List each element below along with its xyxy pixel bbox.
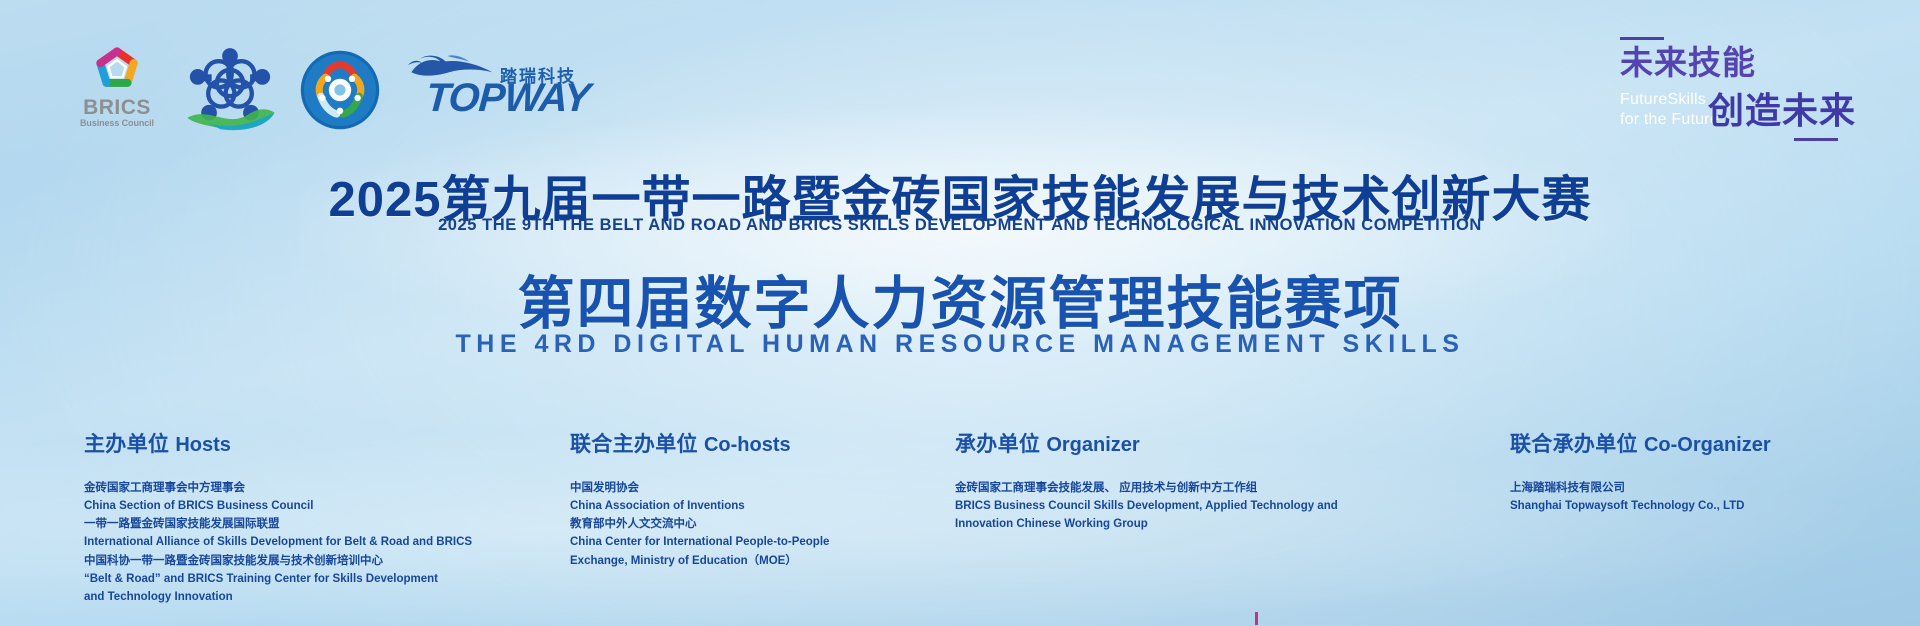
organizer-heading-cn: 联合主办单位: [570, 433, 698, 456]
organizer-list: 金砖国家工商理事会中方理事会 China Section of BRICS Bu…: [84, 479, 554, 606]
futureskills-cn-line1: 未来技能: [1620, 46, 1756, 81]
competition-title-en: 2025 THE 9TH THE BELT AND ROAD AND BRICS…: [0, 216, 1920, 235]
organizer-list: 中国发明协会 China Association of Inventions 教…: [570, 479, 970, 570]
organizer-heading-en: Organizer: [1046, 434, 1139, 456]
bottom-pink-marker: [1255, 612, 1258, 625]
futureskills-top-rule: [1620, 37, 1664, 40]
futureskills-en-lines: FutureSkills for the Future: [1620, 90, 1719, 130]
futureskills-en-line2: for the Future: [1620, 110, 1719, 130]
organizer-line: 中国科协一带一路暨金砖国家技能发展与技术创新培训中心: [84, 552, 554, 570]
organizer-columns: 主办单位 Hosts 金砖国家工商理事会中方理事会 China Section …: [0, 428, 1920, 618]
organizer-heading-cn: 主办单位: [84, 433, 169, 456]
topway-wordmark: TOPWAY: [425, 78, 591, 118]
organizer-line: 金砖国家工商理事会中方理事会: [84, 479, 554, 497]
organizer-line: Innovation Chinese Working Group: [955, 515, 1385, 533]
brics-star-icon: [86, 44, 148, 102]
brics-wordmark: BRICS: [78, 97, 156, 118]
organizer-line: 教育部中外人文交流中心: [570, 515, 970, 533]
organizer-heading: 联合主办单位 Co-hosts: [570, 428, 970, 458]
organizer-list: 金砖国家工商理事会技能发展、 应用技术与创新中方工作组 BRICS Busine…: [955, 479, 1385, 533]
organizer-list: 上海踏瑞科技有限公司 Shanghai Topwaysoft Technolog…: [1510, 479, 1910, 515]
organizer-line: “Belt & Road” and BRICS Training Center …: [84, 570, 554, 588]
event-subtitle-cn: 第四届数字人力资源管理技能赛项: [0, 258, 1920, 340]
organizer-line: 一带一路暨金砖国家技能发展国际联盟: [84, 515, 554, 533]
organizer-heading-cn: 联合承办单位: [1510, 433, 1638, 456]
organizer-heading: 承办单位 Organizer: [955, 428, 1385, 458]
event-subtitle-en: THE 4RD DIGITAL HUMAN RESOURCE MANAGEMEN…: [0, 330, 1920, 359]
futureskills-cn-line2: 创造未来: [1708, 92, 1856, 130]
organizer-heading: 联合承办单位 Co-Organizer: [1510, 428, 1910, 458]
organizer-heading-cn: 承办单位: [955, 433, 1040, 456]
organizer-line: BRICS Business Council Skills Developmen…: [955, 497, 1385, 515]
circle-star-gear-icon: [300, 50, 380, 130]
alliance-flower-icon: [182, 48, 278, 132]
organizer-line: 中国发明协会: [570, 479, 970, 497]
organizer-column-coorganizer: 联合承办单位 Co-Organizer 上海踏瑞科技有限公司 Shanghai …: [1510, 428, 1910, 515]
futureskills-bottom-rule: [1794, 138, 1838, 141]
topway-logo: 踏瑞科技 TOPWAY: [406, 54, 576, 126]
organizer-column-cohosts: 联合主办单位 Co-hosts 中国发明协会 China Association…: [570, 428, 970, 570]
organizer-line: and Technology Innovation: [84, 588, 554, 606]
competition-circle-emblem-logo: [300, 50, 380, 130]
futureskills-logo: 未来技能 FutureSkills for the Future 创造未来: [1580, 28, 1880, 146]
organizer-line: China Association of Inventions: [570, 497, 970, 515]
sponsor-logo-row: BRICS Business Council: [78, 40, 576, 140]
organizer-line: China Section of BRICS Business Council: [84, 497, 554, 515]
organizer-line: Shanghai Topwaysoft Technology Co., LTD: [1510, 497, 1910, 515]
organizer-heading: 主办单位 Hosts: [84, 428, 554, 458]
organizer-heading-en: Co-Organizer: [1644, 434, 1771, 456]
organizer-line: China Center for International People-to…: [570, 533, 970, 551]
organizer-line: Exchange, Ministry of Education（MOE）: [570, 552, 970, 570]
skills-alliance-logo: [182, 48, 278, 132]
organizer-heading-en: Co-hosts: [704, 434, 791, 456]
organizer-line: 上海踏瑞科技有限公司: [1510, 479, 1910, 497]
brics-sub-wordmark: Business Council: [78, 119, 156, 128]
futureskills-en-line1: FutureSkills: [1620, 90, 1719, 110]
organizer-column-organizer: 承办单位 Organizer 金砖国家工商理事会技能发展、 应用技术与创新中方工…: [955, 428, 1385, 533]
organizer-line: International Alliance of Skills Develop…: [84, 533, 554, 551]
organizer-heading-en: Hosts: [175, 434, 231, 456]
brics-business-council-logo: BRICS Business Council: [78, 44, 156, 136]
organizer-line: 金砖国家工商理事会技能发展、 应用技术与创新中方工作组: [955, 479, 1385, 497]
organizer-column-hosts: 主办单位 Hosts 金砖国家工商理事会中方理事会 China Section …: [84, 428, 554, 606]
